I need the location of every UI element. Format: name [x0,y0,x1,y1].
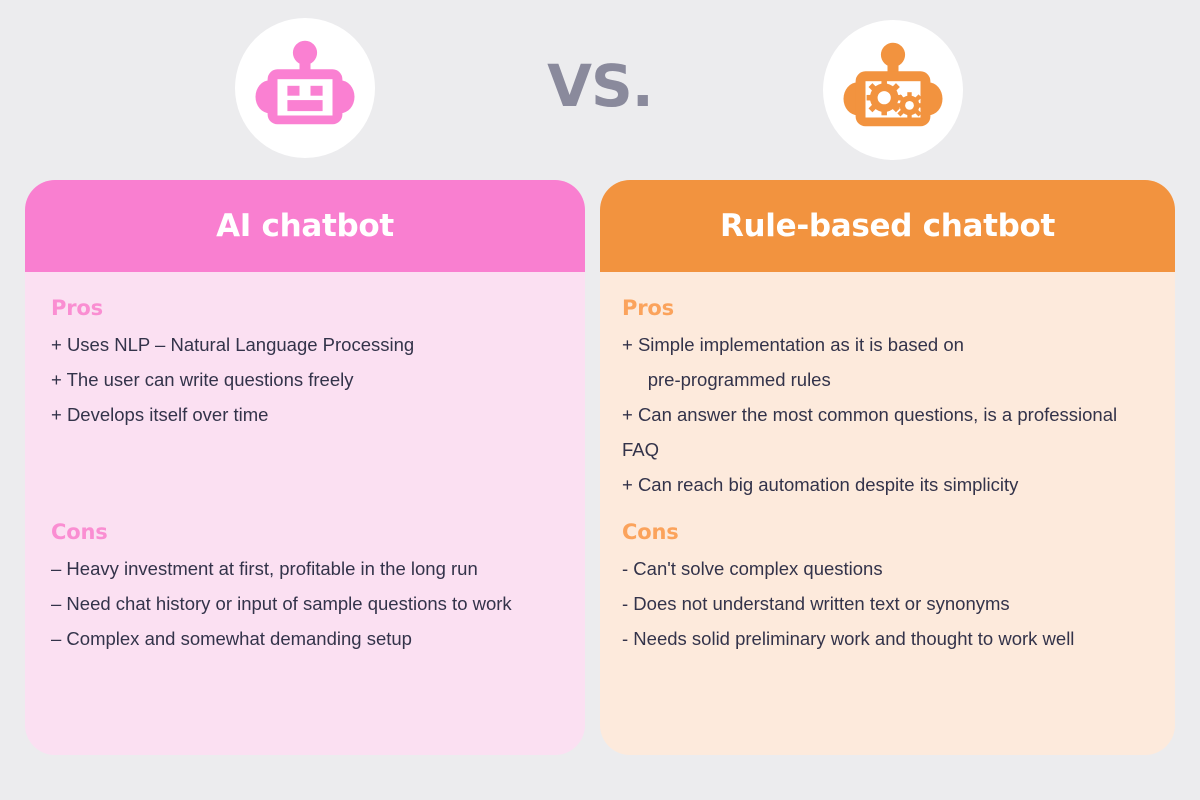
pros-list: + Simple implementation as it is based o… [622,327,1159,502]
vs-label: VS. [0,52,1200,120]
list-item: + Develops itself over time [51,397,559,432]
list-item: - Does not understand written text or sy… [622,586,1159,621]
list-item: – Complex and somewhat demanding setup [51,621,559,656]
card-title: AI chatbot [216,208,394,244]
cons-list: – Heavy investment at first, profitable … [51,551,559,656]
card-title: Rule-based chatbot [720,208,1055,244]
cons-label: Cons [51,520,559,544]
card-body-ai-chatbot: Pros + Uses NLP – Natural Language Proce… [25,272,585,755]
pros-block: Pros + Uses NLP – Natural Language Proce… [51,296,559,432]
list-item: - Needs solid preliminary work and thoug… [622,621,1159,656]
cons-list: - Can't solve complex questions - Does n… [622,551,1159,656]
list-item: – Need chat history or input of sample q… [51,586,559,621]
pros-label: Pros [51,296,559,320]
list-item: - Can't solve complex questions [622,551,1159,586]
rule-based-chatbot-icon-badge [823,20,963,160]
card-rule-based-chatbot: Rule-based chatbot Pros + Simple impleme… [600,180,1175,755]
list-item: + Can answer the most common questions, … [622,397,1159,467]
card-ai-chatbot: AI chatbot Pros + Uses NLP – Natural Lan… [25,180,585,755]
card-header-rule-based-chatbot: Rule-based chatbot [600,180,1175,272]
list-item: + Simple implementation as it is based o… [622,327,1159,397]
list-item: + Can reach big automation despite its s… [622,467,1159,502]
pros-list: + Uses NLP – Natural Language Processing… [51,327,559,432]
robot-gears-icon [838,35,948,145]
list-item: + The user can write questions freely [51,362,559,397]
list-item: – Heavy investment at first, profitable … [51,551,559,586]
pros-block: Pros + Simple implementation as it is ba… [622,296,1159,502]
pros-label: Pros [622,296,1159,320]
cons-label: Cons [622,520,1159,544]
comparison-header: VS. [0,0,1200,180]
card-body-rule-based-chatbot: Pros + Simple implementation as it is ba… [600,272,1175,755]
cons-block: Cons - Can't solve complex questions - D… [622,520,1159,656]
list-item: + Uses NLP – Natural Language Processing [51,327,559,362]
card-header-ai-chatbot: AI chatbot [25,180,585,272]
cons-block: Cons – Heavy investment at first, profit… [51,520,559,656]
